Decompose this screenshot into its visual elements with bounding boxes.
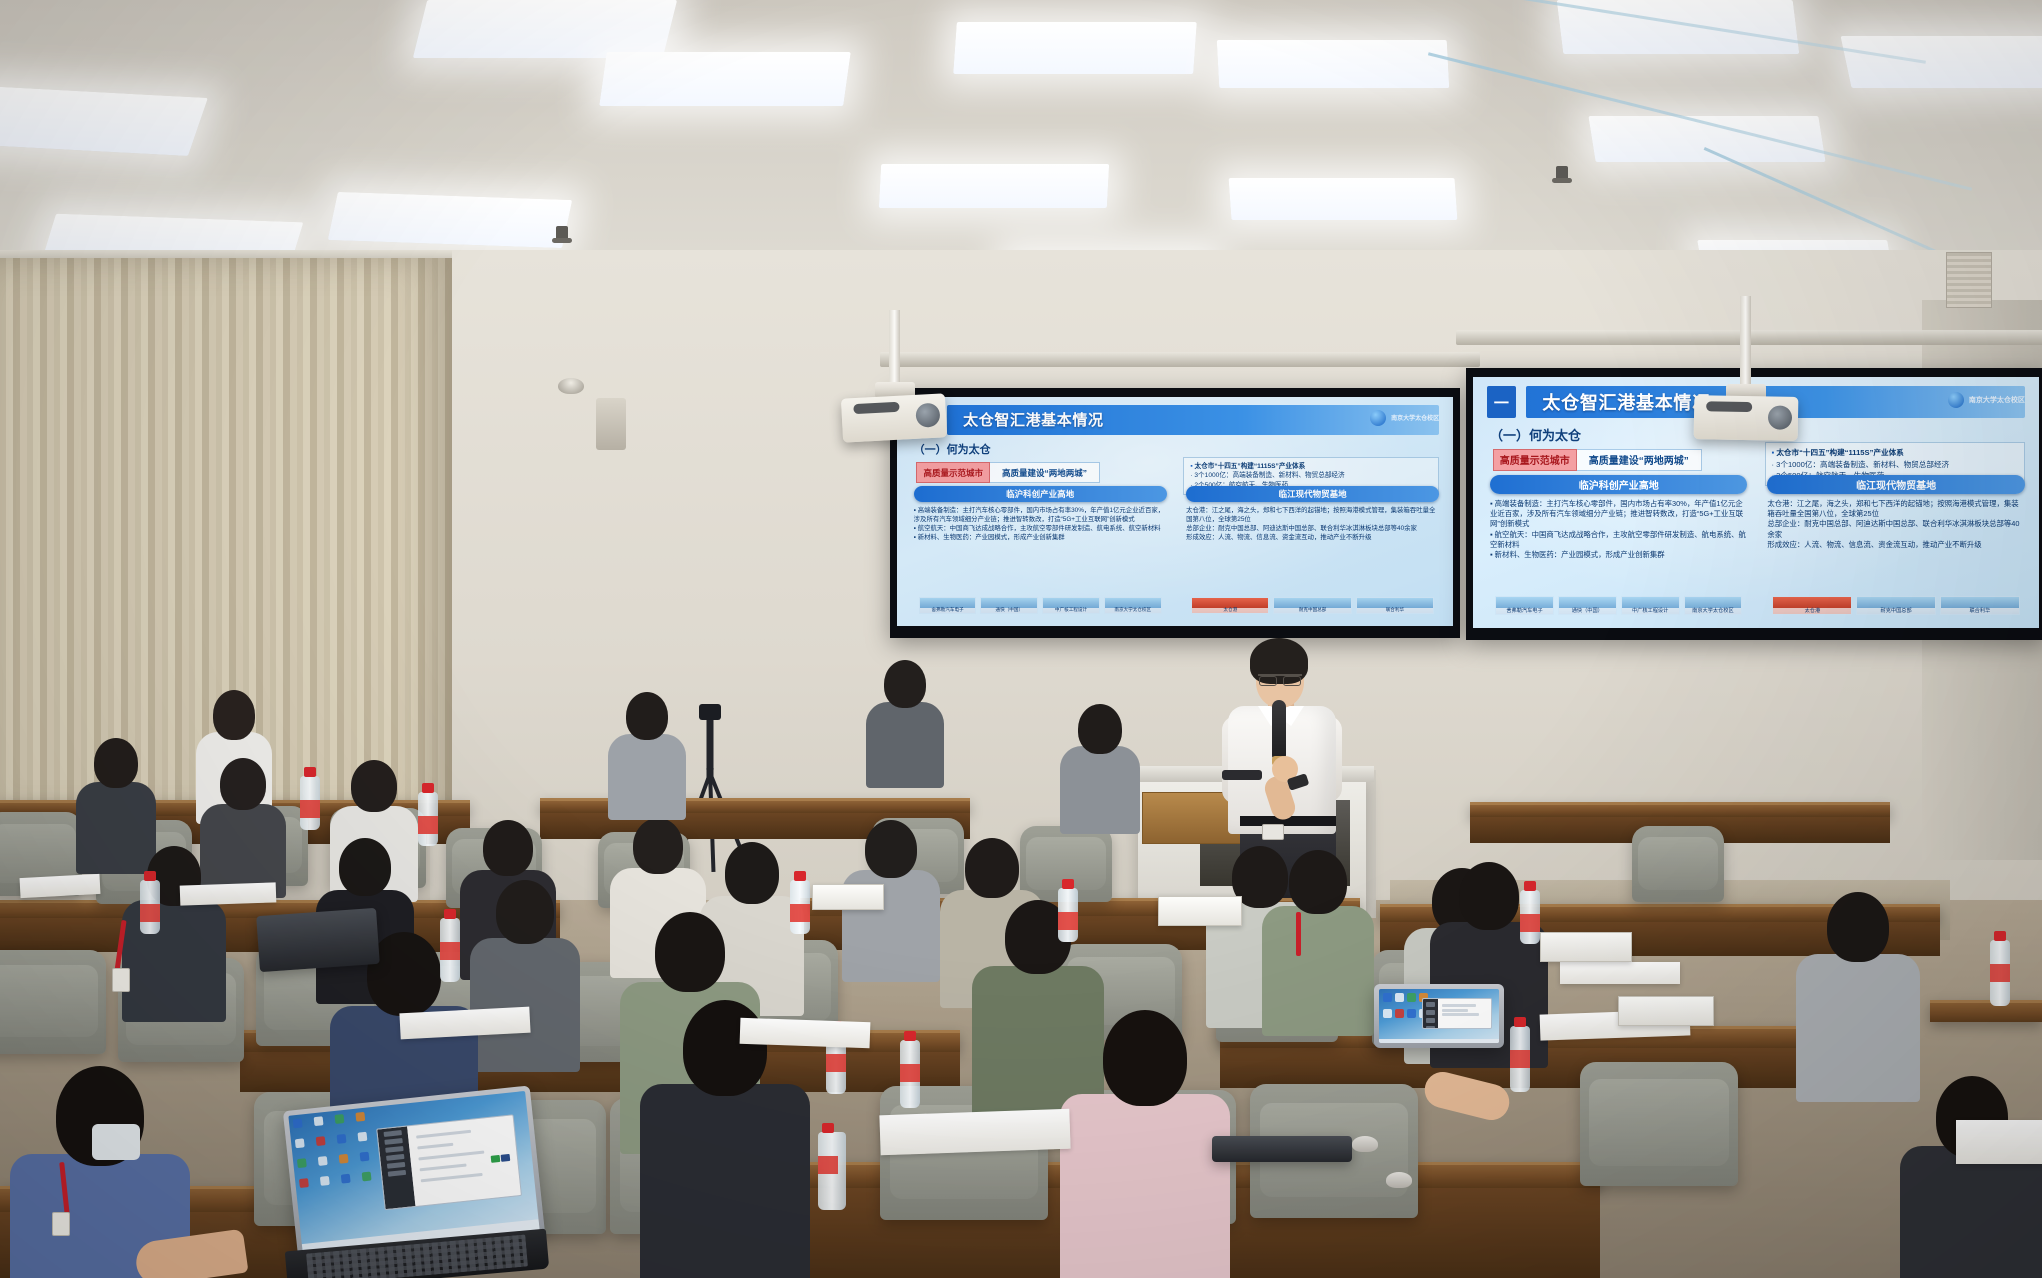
dome-camera-icon: [558, 378, 584, 394]
ceiling-light-panel: [953, 22, 1197, 74]
slide-topright-line1: ▪ 太仓市“十四五”构建“1115S”产业体系: [1190, 462, 1432, 472]
university-logo-icon: [1370, 410, 1386, 426]
desktop-icon[interactable]: [295, 1138, 305, 1148]
slide-thumb: 舍弗勒汽车电子: [1495, 596, 1554, 615]
slide-logo: 南京大学太仓校区: [1948, 387, 2025, 412]
attendee-body: [122, 900, 226, 1022]
handout-paper: [180, 882, 277, 905]
slide-bullet: ▪ 航空航天：中国商飞达成战略合作，主攻航空零部件研发制造、航电系统、航空新材料: [1490, 530, 1748, 550]
handout-paper: [20, 874, 101, 898]
slide-tag-red: 高质量示范城市: [916, 462, 990, 483]
slide-column-left-body: ▪ 高端装备制造：主打汽车核心零部件，国内市场占有率30%，年产值1亿元企业近百…: [914, 507, 1167, 542]
name-placard: [1158, 896, 1242, 926]
slide-bullet: 太仓港：江之尾，海之头，郑和七下西洋的起锚地；按照海港模式管理，集装箱吞吐量全国…: [1186, 507, 1439, 525]
app-accent-block: [490, 1155, 500, 1163]
slide-bullet: ▪ 高端装备制造：主打汽车核心零部件，国内市场占有率30%，年产值1亿元企业近百…: [914, 507, 1167, 525]
chair: [1632, 826, 1724, 902]
attendee-head: [1827, 892, 1889, 962]
badge-card: [52, 1212, 70, 1236]
desktop-icon[interactable]: [362, 1172, 372, 1182]
slide-thumb: 联合利华: [1940, 596, 2020, 615]
attendee-head: [213, 690, 255, 740]
slide-left: 一 太仓智汇港基本情况 南京大学太仓校区 （一）何为太仓 高质量示范城市 高质量…: [897, 397, 1453, 626]
slide-column-left-heading: 临沪科创产业高地: [914, 486, 1167, 502]
slide-bullet: ▪ 高端装备制造：主打汽车核心零部件，国内市场占有率30%，年产值1亿元企业近百…: [1490, 499, 1748, 530]
attendee-body: [866, 702, 944, 788]
desktop-icon[interactable]: [1383, 993, 1392, 1002]
slide-thumb-caption: 太仓港: [1192, 608, 1268, 614]
chair: [0, 950, 106, 1054]
attendee-head: [965, 838, 1019, 898]
ceiling-light-panel: [0, 86, 208, 156]
desktop-icon[interactable]: [1383, 1009, 1392, 1018]
slide-thumb-caption: 中广核工程设计: [1043, 608, 1099, 614]
ceiling-light-panel: [413, 0, 677, 58]
name-placard: [1618, 996, 1714, 1026]
presenter-id-badge: [1262, 824, 1284, 840]
name-placard: [1540, 932, 1632, 962]
slide-thumb-caption: 通快（中国）: [1559, 608, 1616, 614]
slide-tag-body: 高质量建设“两地两城”: [990, 462, 1100, 483]
open-laptop-right[interactable]: [1374, 984, 1504, 1048]
application-window[interactable]: [376, 1115, 522, 1210]
slide-thumb-caption: 通快（中国）: [981, 608, 1037, 614]
ceiling-light-panel: [1229, 178, 1458, 220]
desktop-icon[interactable]: [334, 1114, 344, 1124]
slide-thumb: 中广核工程设计: [1621, 596, 1680, 615]
slide-tag: 高质量示范城市 高质量建设“两地两城”: [916, 462, 1100, 483]
slide-tag-red: 高质量示范城市: [1493, 449, 1577, 472]
attendee-body: [470, 938, 580, 1072]
slide-subtitle: （一）何为太仓: [1490, 425, 1581, 444]
attendee: [1900, 1076, 2042, 1278]
attendee-body: [1060, 746, 1140, 834]
slide-thumb-caption: 耐克中国总部: [1857, 608, 1935, 614]
attendee-head: [339, 838, 391, 896]
projection-screen-housing-left: [880, 352, 1480, 367]
attendee: [1060, 704, 1140, 826]
computer-mouse[interactable]: [1352, 1136, 1378, 1152]
laptop-lid: [1374, 984, 1504, 1048]
desktop-icon[interactable]: [341, 1174, 351, 1184]
attendee-head: [725, 842, 779, 904]
water-bottle: [418, 792, 438, 846]
slide-bullet-text: 航空航天：中国商飞达成战略合作，主攻航空零部件研发制造、航电系统、航空新材料: [918, 525, 1161, 532]
desktop-icon[interactable]: [316, 1136, 326, 1146]
desktop-icon[interactable]: [1395, 1009, 1404, 1018]
name-placard: [812, 884, 884, 910]
water-bottle: [1510, 1026, 1530, 1092]
slide-topright-line2: · 3个1000亿：高端装备制造、新材料、物贸总部经济: [1190, 471, 1432, 481]
lecture-hall-scene: 一 太仓智汇港基本情况 南京大学太仓校区 （一）何为太仓 高质量示范城市 高质量…: [0, 0, 2042, 1278]
slide-section-number: 一: [1487, 386, 1515, 419]
attendee-head: [1103, 1010, 1187, 1106]
slide-column-right: 临江现代物贸基地 太仓港：江之尾，海之头，郑和七下西洋的起锚地；按照海港模式管理…: [1186, 486, 1439, 617]
computer-mouse[interactable]: [1386, 1172, 1412, 1188]
attendee-head: [683, 1000, 767, 1096]
projector-pole: [1740, 296, 1751, 388]
water-bottle: [300, 776, 320, 830]
slide-thumb-caption: 中广核工程设计: [1622, 608, 1679, 614]
desk-row: [540, 798, 970, 813]
closed-laptop[interactable]: [1212, 1136, 1352, 1162]
slide-tag-body: 高质量建设“两地两城”: [1577, 449, 1702, 472]
attendee-head: [1289, 850, 1347, 914]
slide-bullet: 总部企业：耐克中国总部、阿迪达斯中国总部、联合利华冰淇淋板块总部等40余家: [1186, 525, 1439, 534]
water-bottle: [818, 1132, 846, 1210]
slide-logo: 南京大学太仓校区: [1370, 406, 1439, 429]
slide-bullet-text: 形成效应：人流、物流、信息流、资金流互动，推动产业不断升级: [1767, 540, 1981, 549]
closed-laptop[interactable]: [256, 908, 380, 972]
slide-topright-line2-text: 3个1000亿：高端装备制造、新材料、物贸总部经济: [1776, 460, 1949, 469]
projector-right: [1694, 395, 1799, 441]
attendee-body: [640, 1084, 810, 1278]
attendee-head: [351, 760, 397, 812]
slide-logo-text: 南京大学太仓校区: [1969, 395, 2025, 405]
slide-thumb: 通快（中国）: [980, 597, 1038, 614]
water-bottle: [440, 918, 460, 982]
handout-paper: [879, 1109, 1070, 1156]
water-bottle: [1058, 888, 1078, 942]
desktop-icons: [293, 1111, 386, 1239]
projector-left: [841, 393, 947, 442]
slide-thumb: 中广核工程设计: [1042, 597, 1100, 614]
desk-row: [1930, 1000, 2042, 1022]
wall-speaker: [596, 398, 626, 450]
desktop-icon[interactable]: [339, 1154, 349, 1164]
attendee-head: [655, 912, 725, 992]
slide-bullet-text: 总部企业：耐克中国总部、阿迪达斯中国总部、联合利华冰淇淋板块总部等40余家: [1767, 519, 2019, 538]
slide-topright-line2-text: 3个1000亿：高端装备制造、新材料、物贸总部经济: [1194, 472, 1344, 479]
ceiling-light-panel: [599, 52, 851, 106]
attendee: [866, 660, 944, 780]
slide-topright-line2: · 3个1000亿：高端装备制造、新材料、物贸总部经济: [1772, 459, 2018, 470]
desktop-icon[interactable]: [1407, 1009, 1416, 1018]
slide-thumb-row-left: 舍弗勒汽车电子 通快（中国） 中广核工程设计 南京大学太仓校区: [1495, 596, 1742, 615]
slide-column-left-heading: 临沪科创产业高地: [1490, 475, 1748, 494]
ceiling-light-panel: [1217, 40, 1450, 88]
glasses-icon: [1258, 674, 1302, 682]
camera-icon: [699, 704, 721, 720]
slide-bullet-text: 航空航天：中国商飞达成战略合作，主攻航空零部件研发制造、航电系统、航空新材料: [1490, 530, 1746, 549]
sprinkler-head: [1556, 166, 1568, 182]
air-vent: [1946, 252, 1992, 308]
slide-thumb-caption: 南京大学太仓校区: [1105, 608, 1161, 614]
slide-bullet: ▪ 新材料、生物医药：产业园模式，形成产业创新集群: [914, 534, 1167, 543]
attendee-head: [633, 818, 683, 874]
slide-tag: 高质量示范城市 高质量建设“两地两城”: [1493, 449, 1702, 472]
water-bottle: [1990, 940, 2010, 1006]
slide-thumb-row-right: 太仓港 耐克中国总部 联合利华: [1772, 596, 2019, 615]
face-mask-icon: [92, 1124, 140, 1160]
slide-bullet-text: 总部企业：耐克中国总部、阿迪达斯中国总部、联合利华冰淇淋板块总部等40余家: [1186, 525, 1417, 532]
attendee-head: [483, 820, 533, 876]
university-logo-icon: [1948, 392, 1964, 408]
slide-bullet: 形成效应：人流、物流、信息流、资金流互动，推动产业不断升级: [1767, 540, 2025, 550]
slide-bullet-text: 太仓港：江之尾，海之头，郑和七下西洋的起锚地；按照海港模式管理，集装箱吞吐量全国…: [1767, 499, 2018, 518]
attendee-body: [608, 734, 686, 820]
slide-title-bar: 一 太仓智汇港基本情况: [911, 405, 1439, 435]
slide-bullet-text: 太仓港：江之尾，海之头，郑和七下西洋的起锚地；按照海港模式管理，集装箱吞吐量全国…: [1186, 507, 1435, 523]
desktop-icon[interactable]: [314, 1116, 324, 1126]
slide-thumb: 南京大学太仓校区: [1684, 596, 1743, 615]
slide-thumb-caption: 南京大学太仓校区: [1685, 608, 1742, 614]
projector-pole: [889, 310, 900, 388]
slide-thumb: 耐克中国总部: [1856, 596, 1936, 615]
attendee-body: [1262, 906, 1374, 1036]
app-sidebar[interactable]: [1423, 999, 1438, 1028]
app-accent-block: [501, 1154, 511, 1162]
attendee-head: [496, 880, 554, 944]
water-bottle: [140, 880, 160, 934]
slide-bullet-text: 形成效应：人流、物流、信息流、资金流互动，推动产业不断升级: [1186, 534, 1371, 541]
slide-bullet: ▪ 航空航天：中国商飞达成战略合作，主攻航空零部件研发制造、航电系统、航空新材料: [914, 525, 1167, 534]
slide-column-right-body: 太仓港：江之尾，海之头，郑和七下西洋的起锚地；按照海港模式管理，集装箱吞吐量全国…: [1767, 499, 2025, 550]
slide-column-right-heading: 临江现代物贸基地: [1186, 486, 1439, 502]
water-bottle: [1520, 890, 1540, 944]
attendee-head: [865, 820, 917, 878]
slide-thumb-row-left: 舍弗勒汽车电子 通快（中国） 中广核工程设计 南京大学太仓校区: [919, 597, 1162, 614]
desktop-icon[interactable]: [318, 1156, 328, 1166]
handout-paper: [740, 1018, 871, 1049]
laptop-screen: [288, 1091, 539, 1255]
water-bottle: [790, 880, 810, 934]
ceiling-light-panel: [1840, 36, 2042, 88]
slide-thumb: 联合利华: [1356, 597, 1434, 614]
slide-thumb: 太仓港: [1191, 597, 1269, 614]
slide-subtitle: （一）何为太仓: [914, 441, 991, 457]
slide-thumb: 舍弗勒汽车电子: [919, 597, 977, 614]
slide-thumb-caption: 舍弗勒汽车电子: [1496, 608, 1553, 614]
attendee: [1796, 892, 1920, 1092]
attendee: [122, 846, 226, 1010]
slide-thumb-caption: 耐克中国总部: [1274, 608, 1350, 614]
slide-bullet: ▪ 新材料、生物医药：产业园模式，形成产业创新集群: [1490, 550, 1748, 560]
lanyard: [1296, 912, 1301, 956]
attendee-head: [1459, 862, 1519, 930]
taskbar[interactable]: [1379, 1039, 1499, 1043]
slide-column-right-body: 太仓港：江之尾，海之头，郑和七下西洋的起锚地；按照海港模式管理，集装箱吞吐量全国…: [1186, 507, 1439, 542]
desktop-icon[interactable]: [297, 1158, 307, 1168]
slide-thumb: 南京大学太仓校区: [1104, 597, 1162, 614]
ceiling-light-panel: [879, 164, 1109, 208]
slide-column-right: 临江现代物贸基地 太仓港：江之尾，海之头，郑和七下西洋的起锚地；按照海港模式管理…: [1767, 475, 2025, 618]
desktop-icon[interactable]: [320, 1176, 330, 1186]
app-content: [407, 1116, 521, 1206]
slide-thumb: 通快（中国）: [1558, 596, 1617, 615]
slide-bullet-text: 新材料、生物医药：产业园模式，形成产业创新集群: [918, 534, 1065, 541]
slide-thumb-caption: 联合利华: [1357, 608, 1433, 614]
slide-thumb-caption: 舍弗勒汽车电子: [920, 608, 976, 614]
slide-thumb-row-right: 太仓港 耐克中国总部 联合利华: [1191, 597, 1434, 614]
desktop-icon[interactable]: [357, 1132, 367, 1142]
slide-topright-line1-text: 太仓市“十四五”构建“1115S”产业体系: [1195, 463, 1306, 470]
slide-logo-text: 南京大学太仓校区: [1391, 413, 1439, 422]
projection-screen-left: 一 太仓智汇港基本情况 南京大学太仓校区 （一）何为太仓 高质量示范城市 高质量…: [890, 388, 1460, 638]
slide-bullet: 总部企业：耐克中国总部、阿迪达斯中国总部、联合利华冰淇淋板块总部等40余家: [1767, 519, 2025, 539]
attendee-body: [1060, 1094, 1230, 1278]
slide-column-left-body: ▪ 高端装备制造：主打汽车核心零部件，国内市场占有率30%，年产值1亿元企业近百…: [1490, 499, 1748, 560]
slide-thumb-caption: 联合利华: [1941, 608, 2019, 614]
ceiling-light-panel: [328, 192, 572, 248]
presenter-remote[interactable]: [1222, 770, 1262, 780]
slide-bullet: 太仓港：江之尾，海之头，郑和七下西洋的起锚地；按照海港模式管理，集装箱吞吐量全国…: [1767, 499, 2025, 519]
attendee-body: [1900, 1146, 2042, 1278]
handout-paper: [1956, 1120, 2042, 1164]
laptop-screen: [1379, 989, 1499, 1043]
attendee-head: [884, 660, 926, 708]
app-content: [1438, 999, 1491, 1028]
slide-column-right-heading: 临江现代物贸基地: [1767, 475, 2025, 494]
desk-row: [1470, 802, 1890, 817]
water-bottle: [900, 1040, 920, 1108]
slide-bullet: 形成效应：人流、物流、信息流、资金流互动，推动产业不断升级: [1186, 534, 1439, 543]
attendee-head: [220, 758, 266, 810]
sprinkler-head: [556, 226, 568, 242]
attendee: [608, 692, 686, 812]
slide-thumb-caption: 太仓港: [1773, 608, 1851, 614]
slide-column-left: 临沪科创产业高地 ▪ 高端装备制造：主打汽车核心零部件，国内市场占有率30%，年…: [914, 486, 1167, 617]
microphone-icon: [1272, 700, 1286, 762]
desktop-icon[interactable]: [355, 1112, 365, 1122]
slide-topright-line1-text: 太仓市“十四五”构建“1115S”产业体系: [1776, 448, 1903, 457]
slide-thumb: 耐克中国总部: [1273, 597, 1351, 614]
attendee: [1262, 850, 1374, 1026]
slide-bullet-text: 高端装备制造：主打汽车核心零部件，国内市场占有率30%，年产值1亿元企业近百家，…: [914, 507, 1164, 523]
application-window[interactable]: [1422, 998, 1492, 1029]
desktop-icons: [1383, 993, 1424, 1039]
slide-bullet-text: 新材料、生物医药：产业园模式，形成产业创新集群: [1495, 550, 1665, 559]
bullet-square-icon: ▪: [1190, 463, 1192, 470]
desktop-icon[interactable]: [1407, 993, 1416, 1002]
slide-title: 太仓智汇港基本情况: [947, 405, 1439, 435]
attendee-head: [626, 692, 668, 740]
slide-column-left: 临沪科创产业高地 ▪ 高端装备制造：主打汽车核心零部件，国内市场占有率30%，年…: [1490, 475, 1748, 618]
desktop-icon[interactable]: [293, 1118, 303, 1128]
slide-topright-line1: ▪ 太仓市“十四五”构建“1115S”产业体系: [1772, 447, 2018, 458]
bullet-square-icon: ▪: [1772, 448, 1775, 457]
desktop-icon[interactable]: [1395, 993, 1404, 1002]
desktop-icon[interactable]: [337, 1134, 347, 1144]
attendee: [1060, 1010, 1230, 1278]
desktop-icon[interactable]: [299, 1178, 309, 1188]
slide-bullet-text: 高端装备制造：主打汽车核心零部件，国内市场占有率30%，年产值1亿元企业近百家，…: [1490, 499, 1743, 528]
attendee-head: [1078, 704, 1122, 754]
chair: [1580, 1062, 1738, 1186]
slide-thumb: 太仓港: [1772, 596, 1852, 615]
desktop-icon[interactable]: [359, 1152, 369, 1162]
handout-paper: [1560, 962, 1680, 984]
attendee-head: [94, 738, 138, 788]
badge-card: [112, 968, 130, 992]
